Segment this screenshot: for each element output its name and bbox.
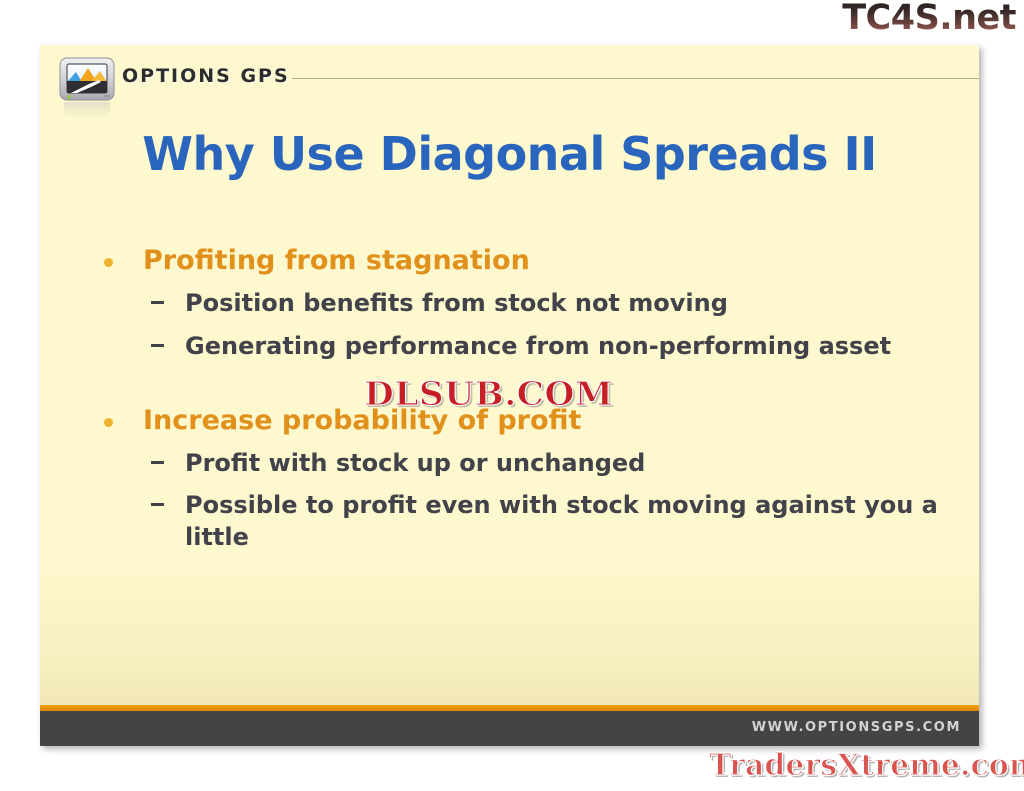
footer-url: WWW.OPTIONSGPS.COM <box>752 720 961 735</box>
sub-bullet-label: Position benefits from stock not moving <box>185 289 728 317</box>
sub-bullet: Position benefits from stock not moving <box>95 288 975 320</box>
header-divider <box>292 78 979 79</box>
sub-bullet-label: Generating performance from non-performi… <box>185 332 891 360</box>
logo-reflection <box>64 102 110 118</box>
slide-title: Why Use Diagonal Spreads II <box>40 127 979 181</box>
bullet-dash-icon <box>151 301 164 304</box>
tradersxtreme-watermark: TradersXtreme.com <box>709 748 1024 783</box>
brand-logo-text: OPTIONS GPS <box>122 65 290 87</box>
bullet-heading: Profiting from stagnation <box>95 245 975 277</box>
bullet-dot-icon <box>104 258 113 267</box>
bullet-heading-label: Profiting from stagnation <box>143 245 530 276</box>
sub-bullet: Possible to profit even with stock movin… <box>95 490 975 554</box>
sub-bullet-label: Profit with stock up or unchanged <box>185 449 645 477</box>
bullet-group: Increase probability of profit Profit wi… <box>95 405 975 555</box>
gps-device-icon <box>59 56 115 102</box>
bullet-dash-icon <box>151 503 164 506</box>
dlsub-watermark: DLSUB.COM <box>364 374 613 413</box>
tc4s-watermark: TC4S.net <box>842 0 1016 38</box>
slide-footer: WWW.OPTIONSGPS.COM <box>40 711 979 746</box>
sub-bullet: Generating performance from non-performi… <box>95 331 975 363</box>
bullet-dot-icon <box>104 418 113 427</box>
bullet-group: Profiting from stagnation Position benef… <box>95 245 975 363</box>
slide-header: OPTIONS GPS <box>40 45 979 105</box>
bullet-dash-icon <box>151 344 164 347</box>
sub-bullet-label: Possible to profit even with stock movin… <box>185 491 938 551</box>
bullet-dash-icon <box>151 461 164 464</box>
sub-bullet: Profit with stock up or unchanged <box>95 448 975 480</box>
screenshot-root: TC4S.net <box>0 0 1024 791</box>
